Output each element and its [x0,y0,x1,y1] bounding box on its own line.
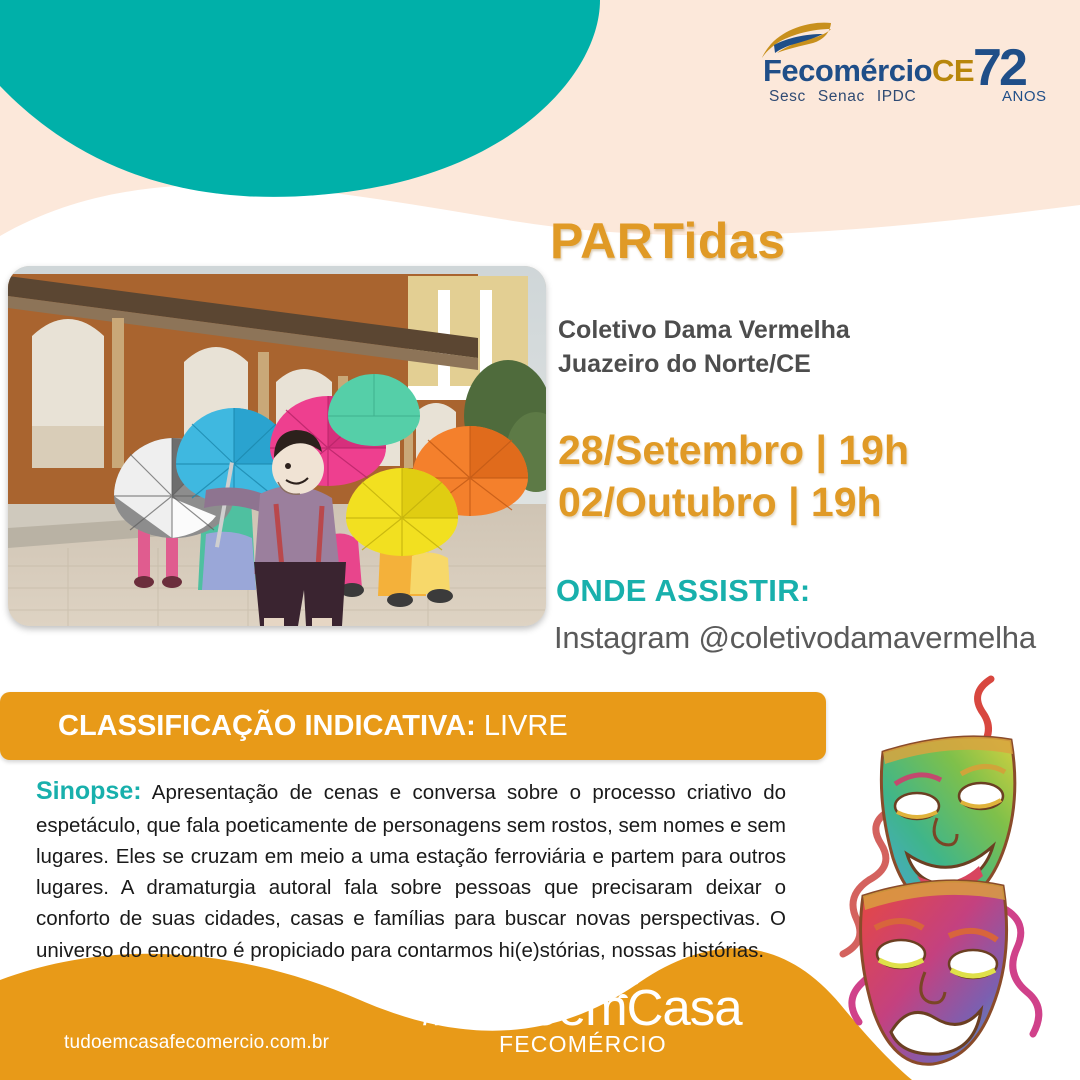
fecomercio-name: FecomércioCE [763,53,974,89]
poster-canvas: FecomércioCE SescSenacIPDC 72 ANOS [0,0,1080,1080]
theatre-masks-icon [825,660,1080,1080]
ribbon-right [1003,908,1039,1034]
fecomercio-state-text: CE [932,53,974,88]
collective-info: Coletivo Dama Vermelha Juazeiro do Norte… [558,314,1068,382]
fecomercio-logo: FecomércioCE SescSenacIPDC 72 ANOS [755,26,1055,118]
event-dates: 28/Setembro | 19h 02/Outubro | 19h [558,424,1078,529]
performance-photo [8,266,546,626]
collective-name: Coletivo Dama Vermelha [558,314,1068,348]
tudoemcasa-hashtag: #TudoemCasa [420,978,742,1037]
rating-label: CLASSIFICAÇÃO INDICATIVA: [58,710,476,742]
synopsis-label: Sinopse: [36,777,142,805]
tudoemcasa-subtitle: FECOMÉRCIO [499,1031,667,1058]
unit-ipdc: IPDC [877,88,916,105]
fecomercio-units: SescSenacIPDC [769,88,928,106]
synopsis-block: Sinopse: Apresentação de cenas e convers… [36,772,786,966]
tudoemcasa-logo: #TudoemCasa FECOMÉRCIO [420,978,760,1070]
performance-photo-illustration [8,266,546,626]
watch-label: ONDE ASSISTIR: [556,573,811,609]
event-date-1: 28/Setembro | 19h [558,424,1078,476]
anniversary-badge: 72 ANOS [973,26,1055,106]
rating-value: LIVRE [484,710,568,742]
page-title: PARTidas [550,212,786,270]
collective-city: Juazeiro do Norte/CE [558,348,1068,382]
anniversary-label: ANOS [1002,88,1047,105]
rating-banner: CLASSIFICAÇÃO INDICATIVA: LIVRE [0,692,826,760]
tragedy-mask [861,881,1007,1064]
synopsis-text: Apresentação de cenas e conversa sobre o… [36,781,786,962]
unit-senac: Senac [818,88,865,105]
footer-website-url[interactable]: tudoemcasafecomercio.com.br [64,1032,329,1054]
event-date-2: 02/Outubro | 19h [558,476,1078,528]
rating-text: CLASSIFICAÇÃO INDICATIVA: LIVRE [58,710,568,743]
fecomercio-name-text: Fecomércio [763,53,932,88]
unit-sesc: Sesc [769,88,806,105]
watch-channel[interactable]: Instagram @coletivodamavermelha [554,620,1036,656]
